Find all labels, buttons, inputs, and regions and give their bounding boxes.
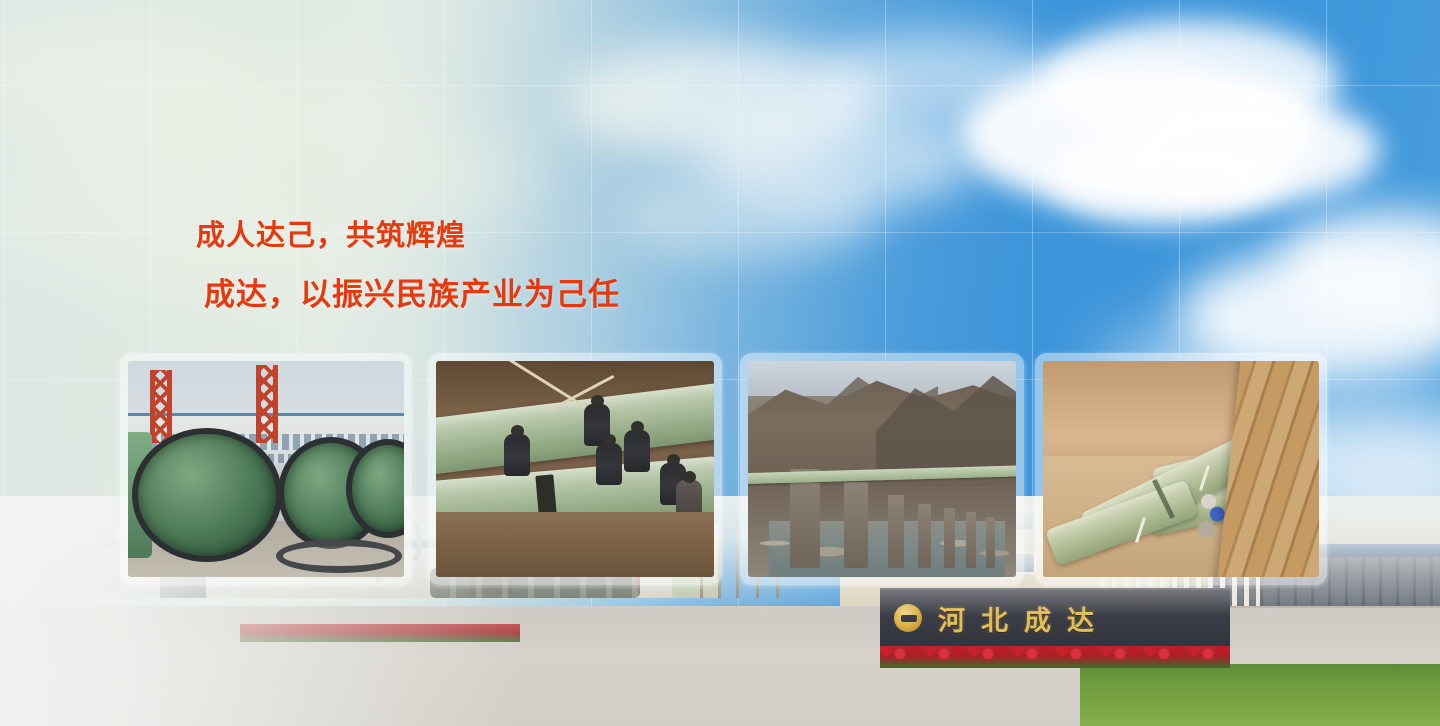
worker-figure bbox=[596, 443, 622, 485]
bridge-pier bbox=[888, 495, 904, 568]
crane-tower-icon bbox=[150, 370, 172, 443]
trench-floor bbox=[436, 512, 714, 577]
thumbnail-image-2[interactable] bbox=[436, 361, 714, 577]
pipe-opening bbox=[132, 428, 282, 562]
thumbnail-card-3[interactable] bbox=[740, 353, 1024, 585]
bridge-pier bbox=[790, 469, 820, 568]
thumbnail-image-4[interactable] bbox=[1043, 361, 1319, 577]
headline-secondary: 成达，以振兴民族产业为己任 bbox=[204, 279, 956, 310]
thumbnail-card-2[interactable] bbox=[428, 353, 722, 585]
bridge-pier bbox=[844, 482, 868, 568]
headline-block: 成人达己，共筑辉煌 成达，以振兴民族产业为己任 bbox=[196, 222, 956, 310]
headline-primary: 成人达己，共筑辉煌 bbox=[196, 222, 956, 251]
worker-figure bbox=[504, 434, 530, 476]
hero-banner: 河北成达 成人达己，共筑辉煌 成达，以振兴民族产业为己任 bbox=[0, 0, 1440, 726]
bridge-pier bbox=[966, 512, 976, 568]
front-lawn bbox=[1080, 664, 1440, 726]
bridge-pier bbox=[986, 517, 995, 569]
pipe-ring bbox=[276, 539, 402, 573]
crane-tower-icon bbox=[256, 365, 278, 443]
thumbnail-image-3[interactable] bbox=[748, 361, 1016, 577]
worker-figure bbox=[624, 430, 650, 472]
thumbnail-image-1[interactable] bbox=[128, 361, 404, 577]
bridge-pier bbox=[944, 508, 955, 568]
thumbnail-card-4[interactable] bbox=[1035, 353, 1327, 585]
thumbnail-card-1[interactable] bbox=[120, 353, 412, 585]
bridge-pier bbox=[918, 504, 931, 569]
